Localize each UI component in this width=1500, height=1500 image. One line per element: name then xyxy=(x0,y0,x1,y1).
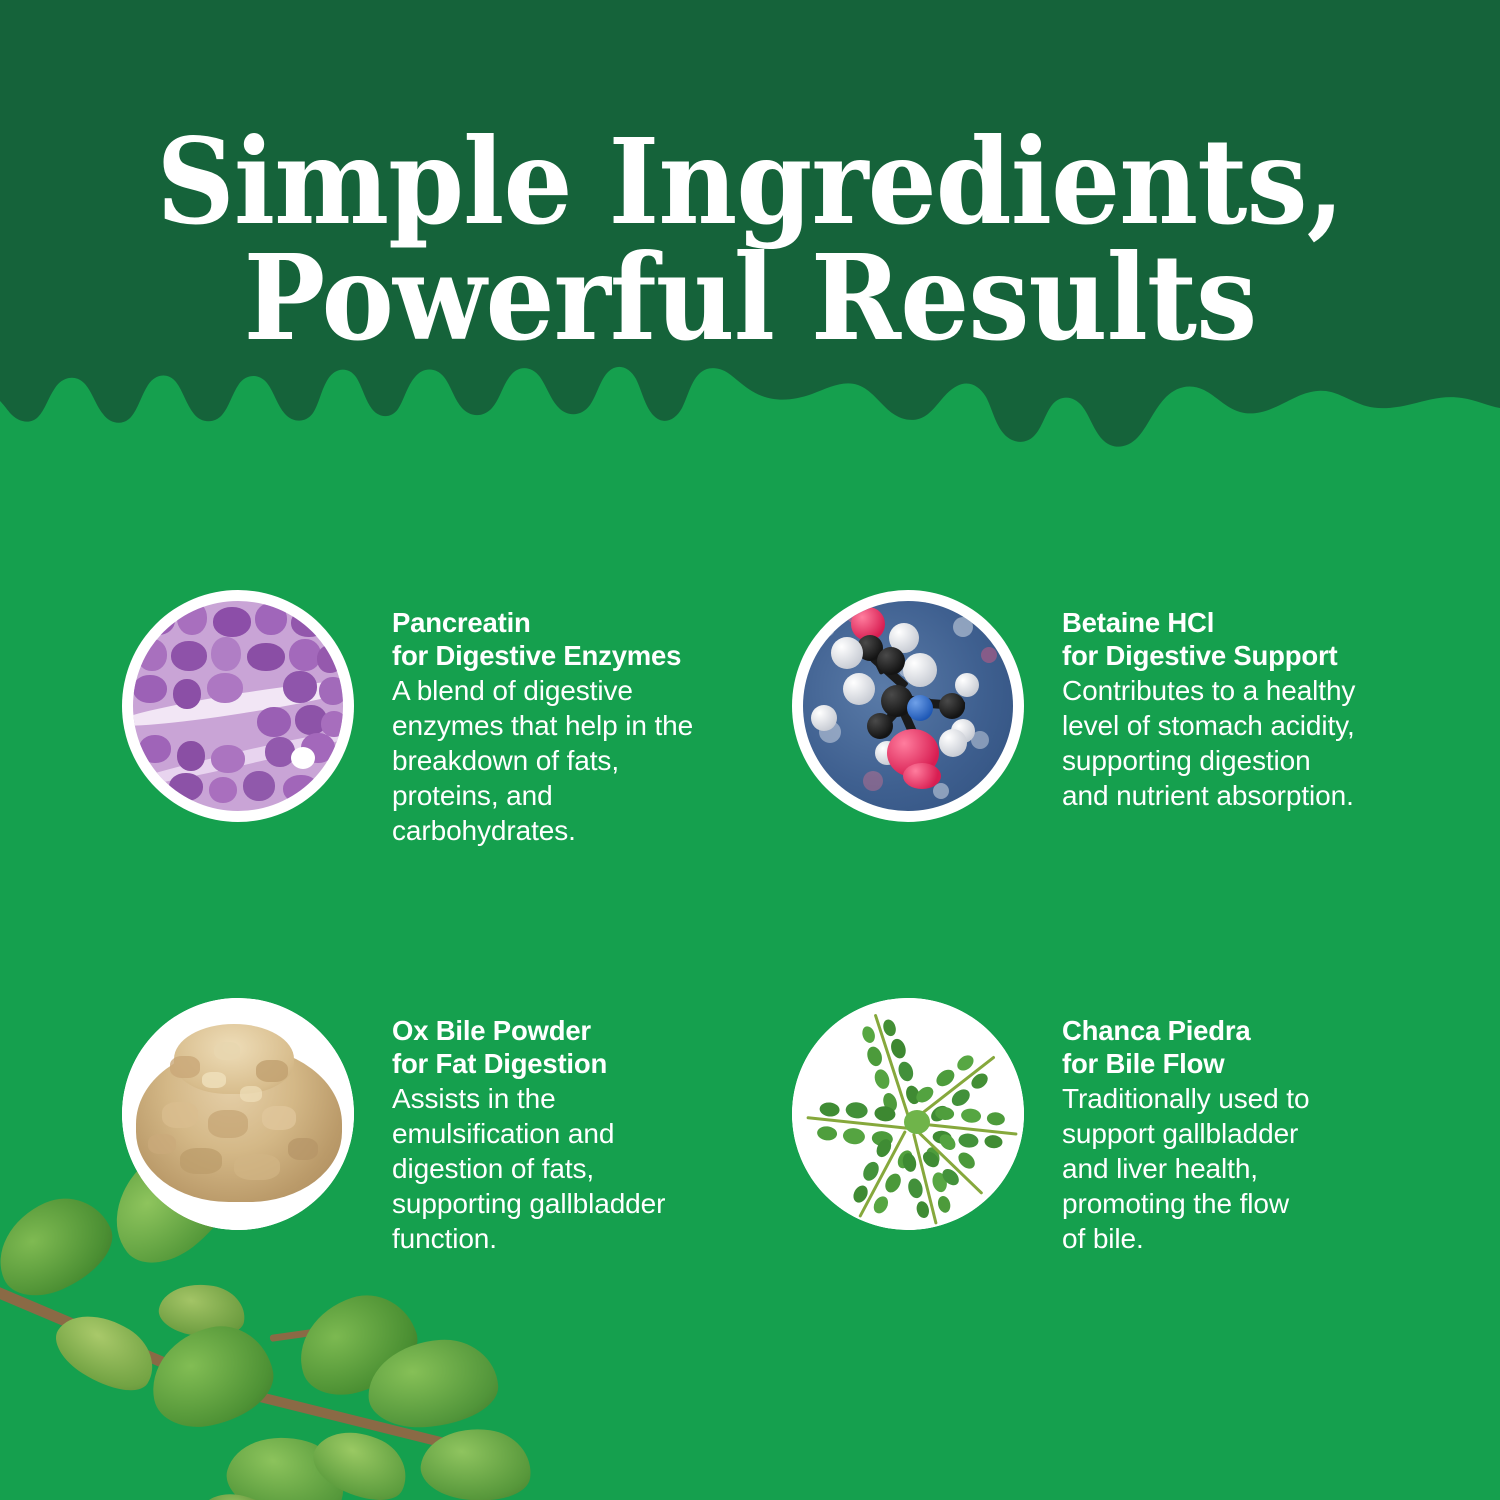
ingredient-subtitle: for Digestive Support xyxy=(1062,639,1355,672)
ingredient-name: Betaine HCl xyxy=(1062,606,1355,639)
betaine-hcl-molecule-image xyxy=(792,590,1024,822)
ingredients-row: Ox Bile Powder for Fat Digestion Assists… xyxy=(0,998,1500,1256)
chanca-piedra-plant-image xyxy=(792,998,1024,1230)
ingredient-description: Contributes to a healthy level of stomac… xyxy=(1062,673,1355,813)
ingredient-card-chanca-piedra: Chanca Piedra for Bile Flow Traditionall… xyxy=(750,998,1500,1256)
ingredient-text: Ox Bile Powder for Fat Digestion Assists… xyxy=(354,998,665,1256)
leafy-branch-decoration xyxy=(0,1235,610,1500)
ingredient-subtitle: for Digestive Enzymes xyxy=(392,639,693,672)
pancreatin-histology-image xyxy=(122,590,354,822)
ingredients-row: Pancreatin for Digestive Enzymes A blend… xyxy=(0,590,1500,848)
page-title: Simple Ingredients, Powerful Results xyxy=(60,124,1440,355)
header-band: Simple Ingredients, Powerful Results xyxy=(0,0,1500,480)
ingredient-description: Assists in the emulsification and digest… xyxy=(392,1081,665,1256)
ingredients-grid: Pancreatin for Digestive Enzymes A blend… xyxy=(0,590,1500,1256)
ingredient-text: Chanca Piedra for Bile Flow Traditionall… xyxy=(1024,998,1309,1256)
ingredient-description: A blend of digestive enzymes that help i… xyxy=(392,673,693,848)
ingredient-subtitle: for Bile Flow xyxy=(1062,1047,1309,1080)
ingredient-name: Ox Bile Powder xyxy=(392,1014,665,1047)
ingredient-subtitle: for Fat Digestion xyxy=(392,1047,665,1080)
infographic-root: Simple Ingredients, Powerful Results xyxy=(0,0,1500,1500)
ingredient-card-ox-bile-powder: Ox Bile Powder for Fat Digestion Assists… xyxy=(0,998,750,1256)
ingredient-name: Chanca Piedra xyxy=(1062,1014,1309,1047)
ingredient-description: Traditionally used to support gallbladde… xyxy=(1062,1081,1309,1256)
ingredient-card-betaine-hcl: Betaine HCl for Digestive Support Contri… xyxy=(750,590,1500,848)
ingredient-card-pancreatin: Pancreatin for Digestive Enzymes A blend… xyxy=(0,590,750,848)
ox-bile-powder-image xyxy=(122,998,354,1230)
ingredient-name: Pancreatin xyxy=(392,606,693,639)
ingredient-text: Pancreatin for Digestive Enzymes A blend… xyxy=(354,590,693,848)
ingredient-text: Betaine HCl for Digestive Support Contri… xyxy=(1024,590,1355,813)
